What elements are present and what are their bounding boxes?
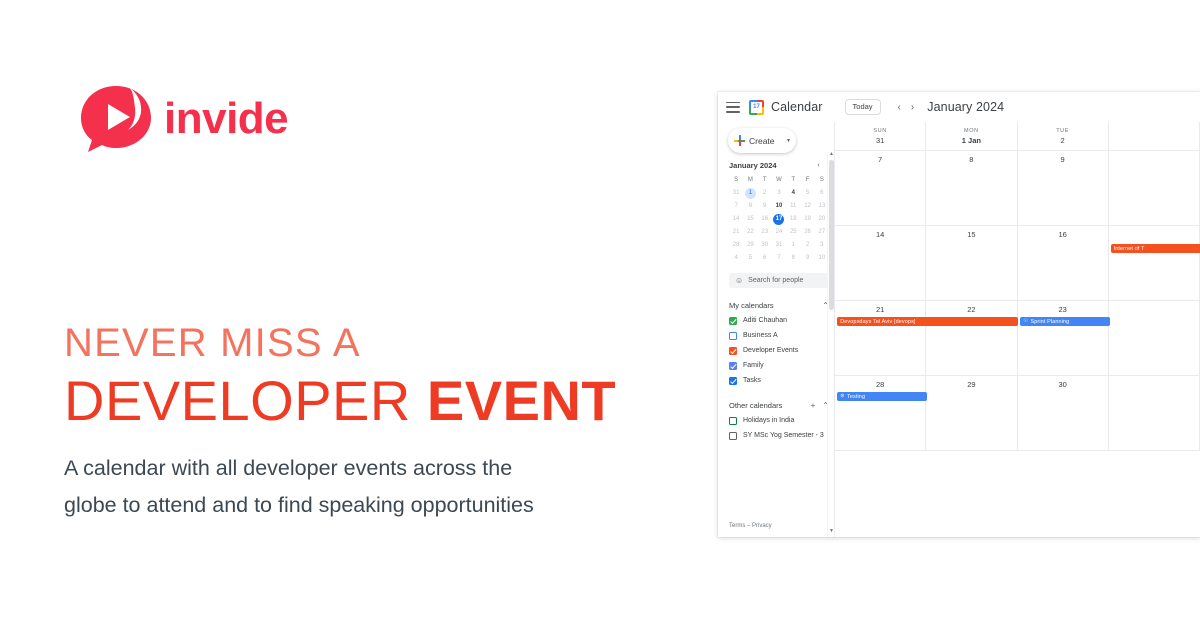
calendar-item-label: Holidays in India bbox=[743, 417, 794, 424]
hamburger-menu-icon[interactable] bbox=[726, 102, 740, 113]
google-calendar-screenshot: 17 Calendar Today ‹ › January 2024 Creat… bbox=[718, 92, 1200, 537]
month-grid: SUN31MON1 JanTUE2 789141516Internet of T… bbox=[834, 122, 1200, 537]
day-number[interactable]: 15 bbox=[926, 229, 1016, 240]
calendar-checkbox[interactable] bbox=[729, 317, 737, 325]
calendar-event[interactable]: ☉Sprint Planning bbox=[1020, 317, 1109, 326]
day-number[interactable]: 21 bbox=[835, 304, 925, 315]
other-calendars-title: Other calendars bbox=[729, 401, 782, 410]
invide-logo[interactable]: invide bbox=[78, 84, 288, 154]
google-calendar-logo-icon: 17 bbox=[749, 100, 764, 115]
mini-calendar-day[interactable]: 8 bbox=[743, 201, 757, 212]
mini-calendar-day[interactable]: 15 bbox=[743, 214, 757, 225]
calendar-checkbox[interactable] bbox=[729, 347, 737, 355]
mini-calendar-day[interactable]: 14 bbox=[729, 214, 743, 225]
mini-calendar-day[interactable]: 7 bbox=[772, 253, 786, 264]
event-title: Devopsdays Tel Aviv [devops] bbox=[840, 319, 915, 325]
mini-calendar-day[interactable]: 10 bbox=[772, 201, 786, 212]
calendar-sidebar: Create ▾ January 2024 ‹ › SMTWTFS3112345… bbox=[718, 122, 834, 537]
column-dow-label: TUE bbox=[1018, 127, 1108, 135]
other-calendars-section: Other calendars + ⌃ Holidays in IndiaSY … bbox=[729, 398, 829, 443]
create-button-label: Create bbox=[749, 136, 775, 146]
month-grid-day-cell[interactable]: 28 bbox=[835, 376, 926, 450]
mini-calendar-day[interactable]: 23 bbox=[758, 227, 772, 238]
mini-calendar-day[interactable]: 29 bbox=[743, 240, 757, 251]
day-number[interactable]: 23 bbox=[1018, 304, 1108, 315]
column-day-number[interactable]: 1 Jan bbox=[926, 135, 1016, 147]
my-calendars-title: My calendars bbox=[729, 301, 774, 310]
sidebar-scrollbar[interactable]: ▲ ▼ bbox=[827, 154, 834, 537]
calendar-checkbox[interactable] bbox=[729, 332, 737, 340]
calendar-item-label: Aditi Chauhan bbox=[743, 317, 787, 324]
plus-icon bbox=[734, 135, 745, 146]
calendar-list-item[interactable]: SY MSc Yog Semester - 3 bbox=[729, 428, 829, 443]
mini-calendar-day[interactable]: 4 bbox=[786, 188, 800, 199]
mini-calendar-dow: S bbox=[729, 175, 743, 186]
month-grid-day-cell[interactable]: 16 bbox=[1018, 226, 1109, 300]
calendar-checkbox[interactable] bbox=[729, 362, 737, 370]
calendar-body: Create ▾ January 2024 ‹ › SMTWTFS3112345… bbox=[718, 122, 1200, 537]
month-grid-day-cell[interactable]: 22 bbox=[926, 301, 1017, 375]
month-grid-day-cell[interactable]: 15 bbox=[926, 226, 1017, 300]
mini-calendar-day[interactable]: 3 bbox=[772, 188, 786, 199]
mini-calendar-day[interactable]: 25 bbox=[786, 227, 800, 238]
other-calendars-header[interactable]: Other calendars + ⌃ bbox=[729, 398, 829, 413]
calendar-list-item[interactable]: Family bbox=[729, 358, 829, 373]
create-button[interactable]: Create ▾ bbox=[728, 128, 796, 153]
mini-calendar-day[interactable]: 2 bbox=[758, 188, 772, 199]
month-nav: ‹ › bbox=[893, 102, 920, 113]
day-number[interactable]: 28 bbox=[835, 379, 925, 390]
sidebar-footer-links[interactable]: Terms – Privacy bbox=[729, 523, 772, 529]
calendar-list-item[interactable]: Aditi Chauhan bbox=[729, 313, 829, 328]
mini-calendar-day[interactable]: 5 bbox=[743, 253, 757, 264]
headline-main-bold: EVENT bbox=[427, 369, 616, 432]
month-grid-day-cell[interactable]: 9 bbox=[1018, 151, 1109, 225]
month-grid-week-row: 212223Devopsdays Tel Aviv [devops]☉Sprin… bbox=[835, 301, 1200, 376]
calendar-item-label: SY MSc Yog Semester - 3 bbox=[743, 432, 824, 439]
mini-calendar-day[interactable]: 24 bbox=[772, 227, 786, 238]
mini-calendar-dow: M bbox=[743, 175, 757, 186]
page-title: NEVER MISS A DEVELOPER EVENT bbox=[64, 322, 616, 433]
day-number[interactable]: 7 bbox=[835, 154, 925, 165]
subtitle-line-2: globe to attend and to find speaking opp… bbox=[64, 487, 684, 524]
current-month-label: January 2024 bbox=[927, 100, 1004, 114]
mini-calendar-dow: T bbox=[786, 175, 800, 186]
promo-subtitle: A calendar with all developer events acr… bbox=[64, 450, 684, 524]
logo-day-number: 17 bbox=[751, 102, 762, 113]
month-grid-day-cell[interactable] bbox=[1109, 226, 1200, 300]
column-day-number[interactable]: 31 bbox=[835, 135, 925, 147]
mini-calendar-day[interactable]: 18 bbox=[786, 214, 800, 225]
headline-top: NEVER MISS A bbox=[64, 322, 616, 364]
mini-calendar-day[interactable]: 22 bbox=[743, 227, 757, 238]
mini-calendar-day[interactable]: 31 bbox=[772, 240, 786, 251]
mini-calendar-day[interactable]: 16 bbox=[758, 214, 772, 225]
my-calendars-list: Aditi ChauhanBusiness ADeveloper EventsF… bbox=[729, 313, 829, 388]
mini-calendar-grid[interactable]: SMTWTFS311234567891011121314151617181920… bbox=[729, 175, 829, 264]
mini-calendar-dow: F bbox=[800, 175, 814, 186]
calendar-list-item[interactable]: Holidays in India bbox=[729, 413, 829, 428]
month-grid-column-header: SUN31 bbox=[835, 122, 926, 150]
column-dow-label: SUN bbox=[835, 127, 925, 135]
mini-calendar-day[interactable]: 11 bbox=[786, 201, 800, 212]
day-number[interactable]: 9 bbox=[1018, 154, 1108, 165]
event-title: Internet of T bbox=[1114, 246, 1145, 252]
event-title: Sprint Planning bbox=[1031, 319, 1070, 325]
add-calendar-icon[interactable]: + bbox=[811, 402, 816, 410]
mini-calendar-day[interactable]: 21 bbox=[729, 227, 743, 238]
month-grid-weeks: 789141516Internet of T212223Devopsdays T… bbox=[835, 151, 1200, 451]
month-grid-day-cell[interactable]: 29 bbox=[926, 376, 1017, 450]
mini-calendar-day[interactable]: 8 bbox=[786, 253, 800, 264]
person-search-icon: ☺ bbox=[735, 276, 743, 285]
promo-left-panel: invide NEVER MISS A DEVELOPER EVENT A ca… bbox=[0, 0, 716, 630]
month-grid-day-cell[interactable]: 21 bbox=[835, 301, 926, 375]
day-number[interactable]: 14 bbox=[835, 229, 925, 240]
calendar-item-label: Business A bbox=[743, 332, 778, 339]
mini-calendar-day[interactable]: 7 bbox=[729, 201, 743, 212]
calendar-list-item[interactable]: Business A bbox=[729, 328, 829, 343]
mini-calendar-day[interactable]: 17 bbox=[773, 214, 784, 225]
event-status-icon: ⊗ bbox=[840, 394, 844, 399]
month-grid-week-row: 141516Internet of T bbox=[835, 226, 1200, 301]
mini-calendar-dow: T bbox=[758, 175, 772, 186]
mini-calendar-month: January 2024 bbox=[729, 161, 777, 170]
day-number[interactable]: 30 bbox=[1018, 379, 1108, 390]
mini-calendar-day[interactable]: 1 bbox=[786, 240, 800, 251]
day-number[interactable]: 8 bbox=[926, 154, 1016, 165]
speech-bubble-play-face-icon bbox=[78, 84, 154, 154]
search-people-input[interactable]: ☺ Search for people bbox=[729, 273, 829, 288]
mini-calendar: January 2024 ‹ › SMTWTFS3112345678910111… bbox=[724, 161, 834, 264]
column-day-number[interactable]: 2 bbox=[1018, 135, 1108, 147]
calendar-item-label: Family bbox=[743, 362, 764, 369]
mini-calendar-day[interactable]: 26 bbox=[800, 227, 814, 238]
event-title: Testing bbox=[847, 394, 865, 400]
prev-month-icon[interactable]: ‹ bbox=[893, 102, 906, 113]
mini-prev-month-icon[interactable]: ‹ bbox=[817, 162, 819, 169]
month-grid-day-cell[interactable]: 7 bbox=[835, 151, 926, 225]
mini-calendar-day[interactable]: 4 bbox=[729, 253, 743, 264]
month-grid-header: SUN31MON1 JanTUE2 bbox=[835, 122, 1200, 151]
calendar-list-item[interactable]: Tasks bbox=[729, 373, 829, 388]
event-status-icon: ☉ bbox=[1023, 319, 1028, 324]
month-grid-week-row: 789 bbox=[835, 151, 1200, 226]
calendar-list-item[interactable]: Developer Events bbox=[729, 343, 829, 358]
invide-wordmark: invide bbox=[164, 97, 288, 141]
day-number[interactable]: 22 bbox=[926, 304, 1016, 315]
mini-calendar-day[interactable]: 9 bbox=[758, 201, 772, 212]
headline-main: DEVELOPER EVENT bbox=[64, 370, 616, 433]
month-grid-week-row: 282930⊗Testing bbox=[835, 376, 1200, 451]
month-grid-day-cell[interactable]: 30 bbox=[1018, 376, 1109, 450]
mini-calendar-day[interactable]: 28 bbox=[729, 240, 743, 251]
mini-calendar-header: January 2024 ‹ › bbox=[729, 161, 829, 170]
mini-calendar-day[interactable]: 5 bbox=[800, 188, 814, 199]
day-number[interactable]: 16 bbox=[1018, 229, 1108, 240]
month-grid-day-cell[interactable] bbox=[1109, 151, 1200, 225]
mini-calendar-day[interactable]: 6 bbox=[758, 253, 772, 264]
month-grid-day-cell[interactable]: 23 bbox=[1018, 301, 1109, 375]
mini-calendar-day[interactable]: 31 bbox=[729, 188, 743, 199]
next-month-icon[interactable]: › bbox=[906, 102, 919, 113]
mini-calendar-day[interactable]: 30 bbox=[758, 240, 772, 251]
subtitle-line-1: A calendar with all developer events acr… bbox=[64, 450, 684, 487]
my-calendars-section: My calendars ⌃ Aditi ChauhanBusiness ADe… bbox=[729, 298, 829, 388]
month-grid-column-header: TUE2 bbox=[1018, 122, 1109, 150]
today-button[interactable]: Today bbox=[845, 99, 881, 115]
my-calendars-header[interactable]: My calendars ⌃ bbox=[729, 298, 829, 313]
app-title: Calendar bbox=[771, 100, 823, 114]
mini-calendar-day[interactable]: 2 bbox=[800, 240, 814, 251]
calendar-checkbox[interactable] bbox=[729, 377, 737, 385]
mini-calendar-day[interactable]: 19 bbox=[800, 214, 814, 225]
calendar-topbar: 17 Calendar Today ‹ › January 2024 bbox=[718, 92, 1200, 122]
calendar-event[interactable]: Internet of T bbox=[1111, 244, 1200, 253]
column-dow-label: MON bbox=[926, 127, 1016, 135]
chevron-down-icon[interactable]: ▾ bbox=[787, 137, 790, 144]
month-grid-day-cell[interactable] bbox=[1109, 301, 1200, 375]
promo-banner: invide NEVER MISS A DEVELOPER EVENT A ca… bbox=[0, 0, 1200, 630]
calendar-item-label: Developer Events bbox=[743, 347, 798, 354]
calendar-event[interactable]: ⊗Testing bbox=[837, 392, 926, 401]
search-people-placeholder: Search for people bbox=[748, 277, 803, 284]
calendar-checkbox[interactable] bbox=[729, 417, 737, 425]
month-grid-day-cell[interactable]: 8 bbox=[926, 151, 1017, 225]
month-grid-column-header: MON1 Jan bbox=[926, 122, 1017, 150]
calendar-item-label: Tasks bbox=[743, 377, 761, 384]
month-grid-day-cell[interactable]: 14 bbox=[835, 226, 926, 300]
calendar-checkbox[interactable] bbox=[729, 432, 737, 440]
calendar-event[interactable]: Devopsdays Tel Aviv [devops] bbox=[837, 317, 1018, 326]
mini-calendar-dow: W bbox=[772, 175, 786, 186]
headline-main-light: DEVELOPER bbox=[64, 369, 411, 432]
other-calendars-list: Holidays in IndiaSY MSc Yog Semester - 3 bbox=[729, 413, 829, 443]
month-grid-column-header bbox=[1109, 122, 1200, 150]
mini-calendar-day[interactable]: 1 bbox=[745, 188, 756, 199]
month-grid-day-cell[interactable] bbox=[1109, 376, 1200, 450]
mini-calendar-day[interactable]: 9 bbox=[800, 253, 814, 264]
mini-calendar-day[interactable]: 12 bbox=[800, 201, 814, 212]
day-number[interactable]: 29 bbox=[926, 379, 1016, 390]
